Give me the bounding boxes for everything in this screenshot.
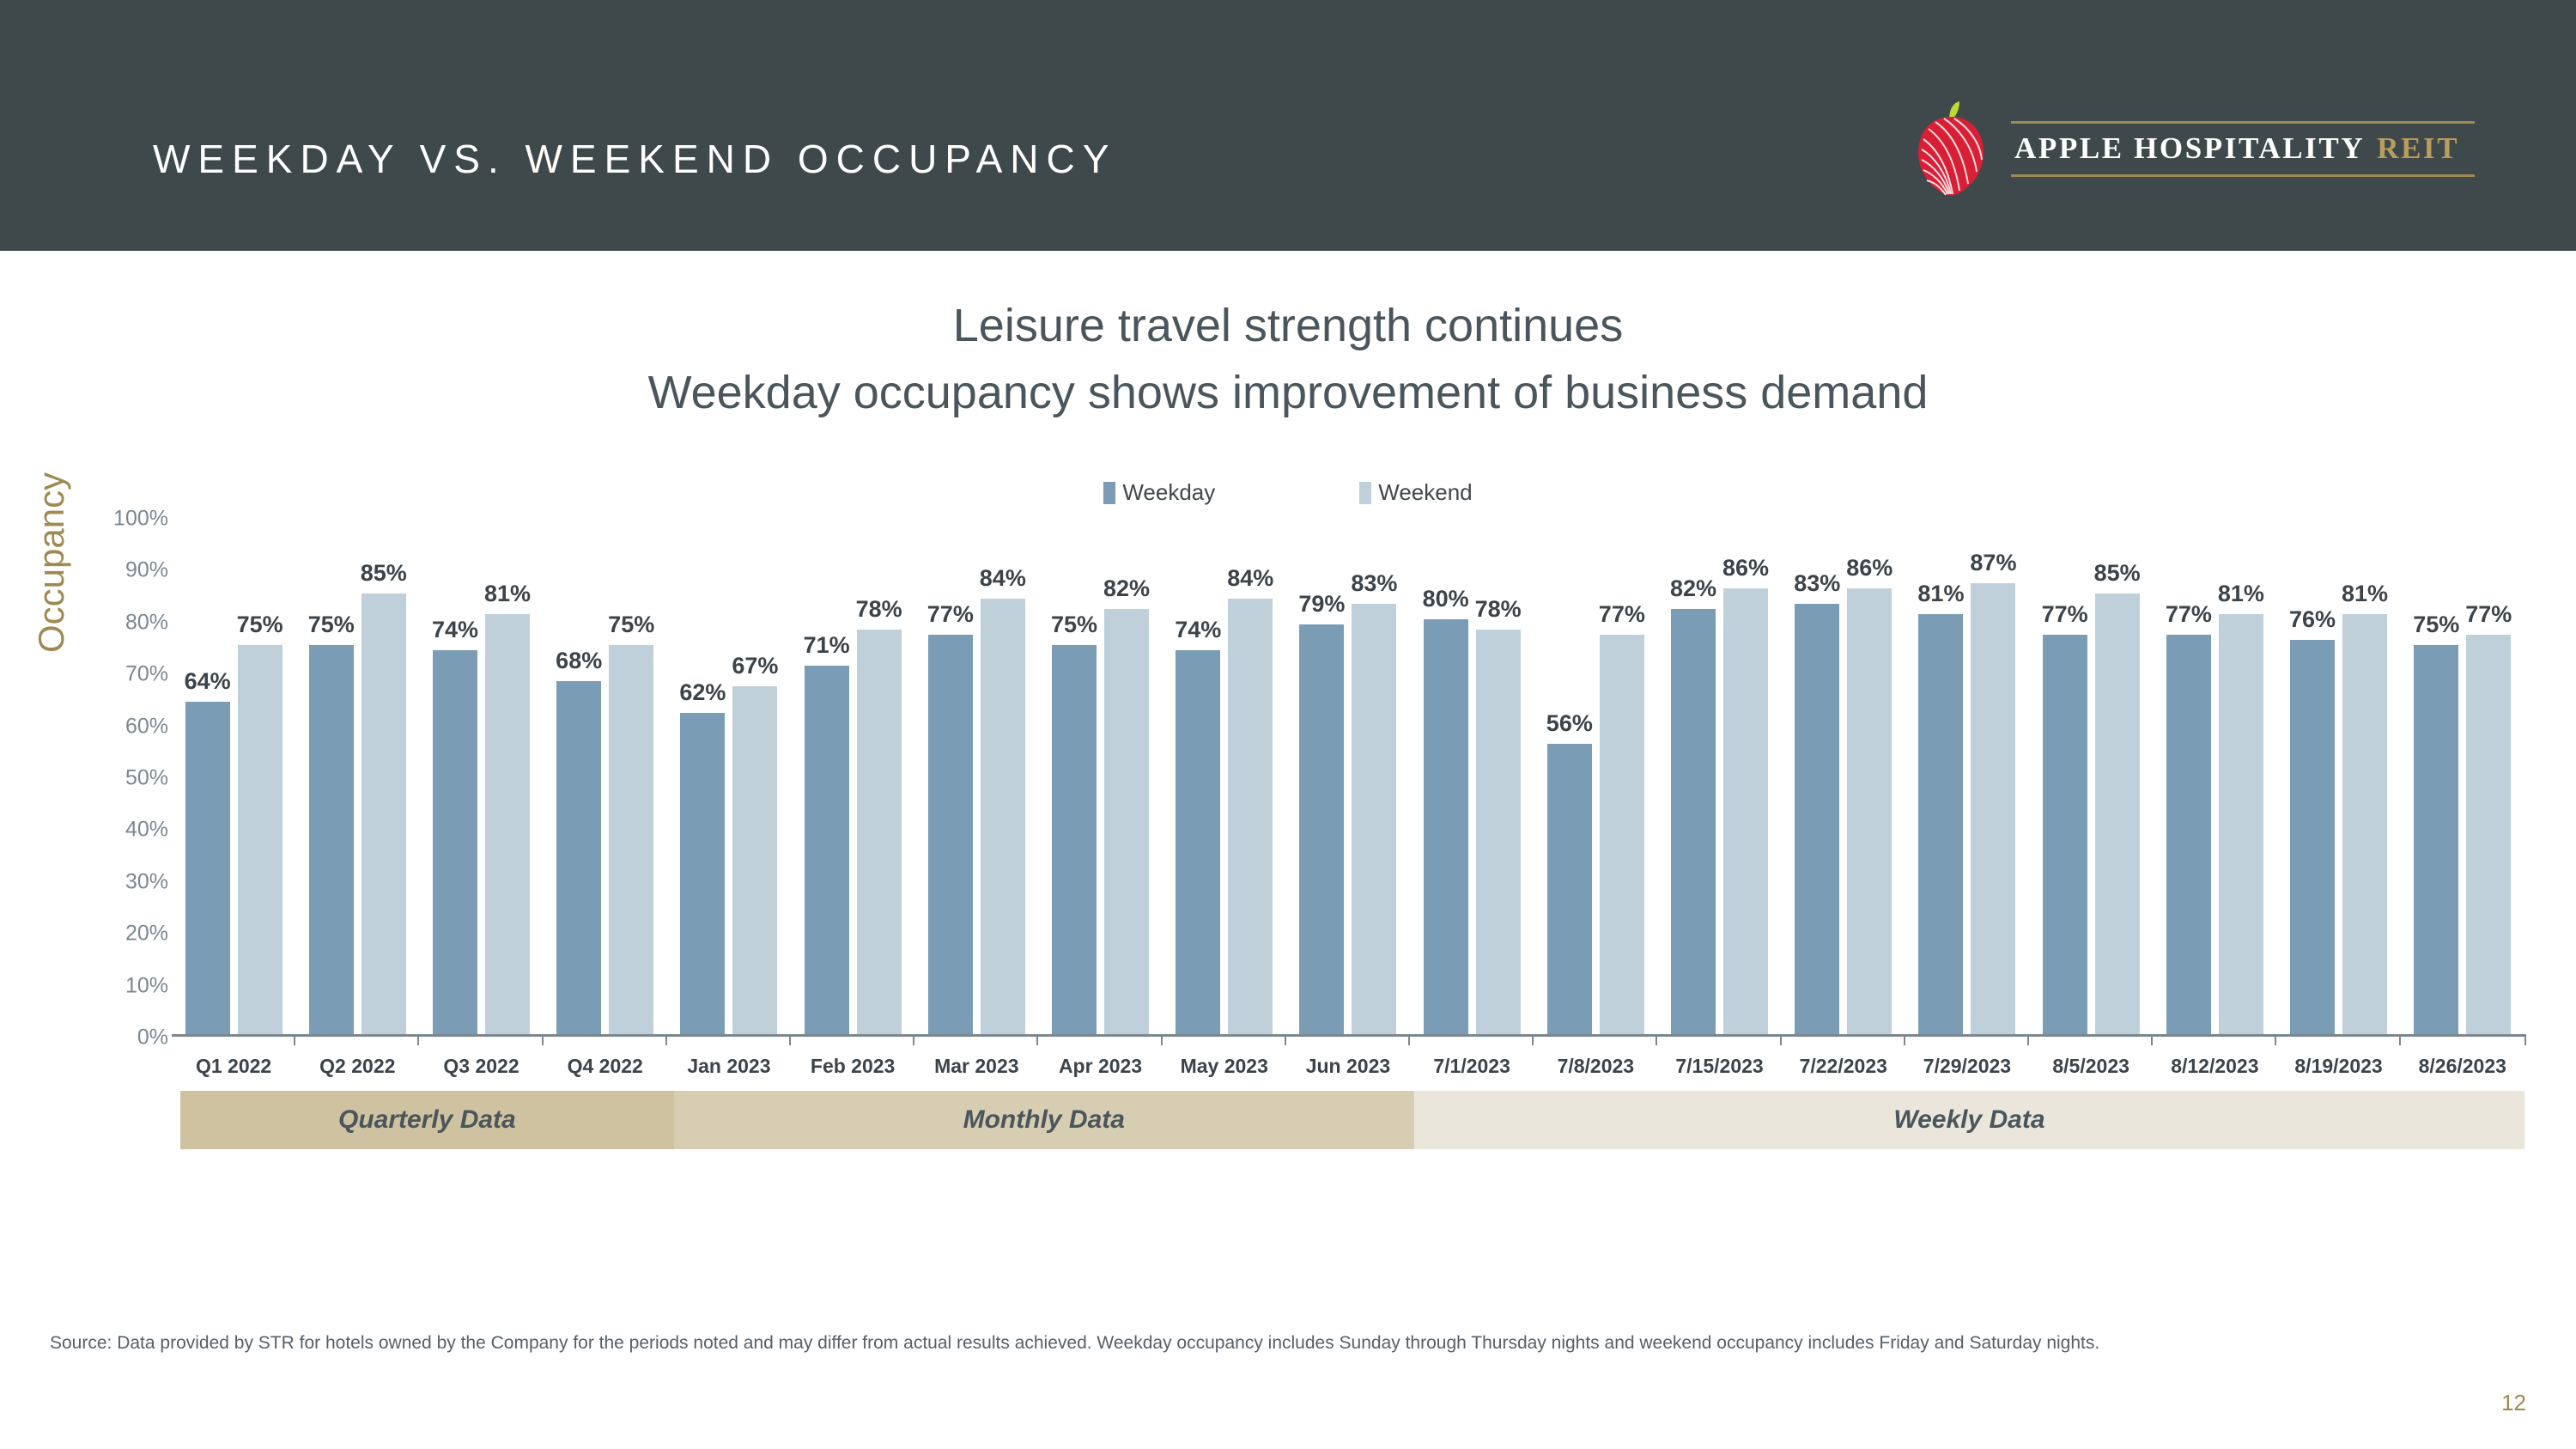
apple-logo-icon xyxy=(1915,101,1989,196)
bar-value-label: 77% xyxy=(1599,601,1645,628)
banner-segment-label: Monthly Data xyxy=(963,1105,1125,1135)
bar-weekend[interactable]: 75% xyxy=(609,645,653,1034)
chart-title-line2: Weekday occupancy shows improvement of b… xyxy=(0,359,2576,426)
bar-group: 74%81% xyxy=(419,515,543,1034)
y-tick: 80% xyxy=(125,610,168,635)
logo-rule-bottom xyxy=(2011,174,2475,177)
bar-groups: 64%75%75%85%74%81%68%75%62%67%71%78%77%8… xyxy=(172,515,2524,1034)
bar-weekend[interactable]: 86% xyxy=(1723,588,1768,1034)
bar-group: 74%84% xyxy=(1163,515,1286,1034)
bar-value-label: 75% xyxy=(308,612,355,638)
bar-weekend[interactable]: 84% xyxy=(981,599,1025,1034)
data-frequency-banner: Quarterly DataMonthly DataWeekly Data xyxy=(180,1091,2524,1149)
x-axis-label: 7/15/2023 xyxy=(1657,1044,1781,1078)
bar-group: 77%81% xyxy=(2153,515,2276,1034)
x-axis-label: 8/19/2023 xyxy=(2276,1044,2400,1078)
bar-weekday[interactable]: 80% xyxy=(1424,619,1468,1034)
x-axis-label: Jan 2023 xyxy=(667,1044,791,1078)
x-axis-label: May 2023 xyxy=(1163,1044,1286,1078)
x-axis-label: Q1 2022 xyxy=(172,1044,295,1078)
bar-weekend[interactable]: 77% xyxy=(1600,635,1644,1034)
chart-legend: WeekdayWeekend xyxy=(0,479,2576,506)
bar-weekend[interactable]: 87% xyxy=(1971,583,2015,1034)
bar-weekday[interactable]: 71% xyxy=(805,666,849,1034)
bar-value-label: 84% xyxy=(980,565,1026,592)
legend-item-weekday[interactable]: Weekday xyxy=(1103,479,1215,506)
y-tick: 0% xyxy=(137,1026,168,1050)
bar-weekend[interactable]: 84% xyxy=(1228,599,1273,1034)
y-tick: 40% xyxy=(125,818,168,843)
bar-value-label: 81% xyxy=(2218,581,2264,607)
bar-weekday[interactable]: 74% xyxy=(433,650,477,1034)
bar-weekend[interactable]: 67% xyxy=(732,686,777,1034)
plot-area: 64%75%75%85%74%81%68%75%62%67%71%78%77%8… xyxy=(172,515,2524,1034)
bar-value-label: 67% xyxy=(732,653,778,679)
bar-value-label: 85% xyxy=(2094,560,2141,587)
x-axis-label: Jun 2023 xyxy=(1286,1044,1410,1078)
bar-weekday[interactable]: 77% xyxy=(2166,635,2211,1034)
bar-value-label: 77% xyxy=(2042,601,2088,628)
y-tick: 90% xyxy=(125,558,168,583)
bar-weekend[interactable]: 83% xyxy=(1352,604,1396,1034)
x-axis-line xyxy=(172,1034,2524,1037)
banner-segment-label: Quarterly Data xyxy=(338,1105,516,1135)
bar-group: 77%85% xyxy=(2029,515,2153,1034)
x-axis-label: Apr 2023 xyxy=(1038,1044,1162,1078)
bar-value-label: 75% xyxy=(608,612,654,638)
bar-group: 75%82% xyxy=(1038,515,1162,1034)
bar-weekend[interactable]: 81% xyxy=(2342,614,2387,1034)
bar-group: 80%78% xyxy=(1410,515,1534,1034)
bar-group: 75%77% xyxy=(2401,515,2524,1034)
bar-value-label: 64% xyxy=(185,668,231,695)
x-axis-label: Q3 2022 xyxy=(419,1044,543,1078)
banner-segment-label: Weekly Data xyxy=(1893,1105,2044,1135)
y-axis-title: Occupancy xyxy=(31,472,72,653)
slide-root: WEEKDAY VS. WEEKEND OCCUPANCY xyxy=(0,0,2576,1449)
legend-swatch-weekday-icon xyxy=(1103,482,1115,504)
bar-value-label: 77% xyxy=(2465,601,2512,628)
y-tick: 10% xyxy=(125,973,168,998)
x-axis-labels: Q1 2022Q2 2022Q3 2022Q4 2022Jan 2023Feb … xyxy=(172,1044,2524,1078)
y-tick: 100% xyxy=(113,507,168,532)
x-axis-label: 7/22/2023 xyxy=(1782,1044,1905,1078)
bar-group: 76%81% xyxy=(2276,515,2400,1034)
page-title: WEEKDAY VS. WEEKEND OCCUPANCY xyxy=(153,136,1116,182)
bar-weekend[interactable]: 75% xyxy=(238,645,283,1034)
bar-weekend[interactable]: 81% xyxy=(2219,614,2263,1034)
bar-value-label: 81% xyxy=(484,581,531,607)
page-number: 12 xyxy=(2501,1390,2526,1416)
bar-weekday[interactable]: 76% xyxy=(2290,640,2335,1034)
bar-weekend[interactable]: 82% xyxy=(1104,609,1149,1034)
bar-value-label: 77% xyxy=(927,601,974,628)
bar-value-label: 74% xyxy=(1175,617,1221,643)
x-axis-label: 8/5/2023 xyxy=(2029,1044,2153,1078)
y-tick: 20% xyxy=(125,922,168,947)
bar-group: 81%87% xyxy=(1905,515,2029,1034)
logo-word-secondary: REIT xyxy=(2377,131,2459,166)
bar-weekday[interactable]: 77% xyxy=(928,635,973,1034)
bar-group: 83%86% xyxy=(1782,515,1905,1034)
bar-value-label: 84% xyxy=(1227,565,1273,592)
bar-value-label: 82% xyxy=(1670,575,1716,602)
x-axis-label: Q2 2022 xyxy=(295,1044,419,1078)
bar-value-label: 62% xyxy=(679,679,726,706)
x-axis-label: Feb 2023 xyxy=(791,1044,914,1078)
bar-weekday[interactable]: 81% xyxy=(1918,614,1963,1034)
bar-value-label: 77% xyxy=(2166,601,2212,628)
bar-weekday[interactable]: 82% xyxy=(1671,609,1716,1034)
bar-group: 62%67% xyxy=(667,515,791,1034)
legend-swatch-weekend-icon xyxy=(1359,482,1371,504)
x-axis-label: 8/26/2023 xyxy=(2401,1044,2524,1078)
y-tick: 50% xyxy=(125,766,168,791)
bar-weekday[interactable]: 62% xyxy=(680,713,725,1034)
bar-value-label: 82% xyxy=(1103,575,1150,602)
bar-value-label: 68% xyxy=(556,648,602,674)
bar-value-label: 56% xyxy=(1546,710,1593,737)
y-tick: 60% xyxy=(125,714,168,739)
y-tick: 30% xyxy=(125,869,168,894)
bar-value-label: 83% xyxy=(1794,570,1840,597)
bar-value-label: 83% xyxy=(1351,570,1397,597)
bar-weekday[interactable]: 75% xyxy=(2414,645,2458,1034)
bar-value-label: 78% xyxy=(1475,596,1522,623)
bar-value-label: 75% xyxy=(2413,612,2459,638)
bar-weekend[interactable]: 78% xyxy=(857,630,902,1034)
bar-value-label: 78% xyxy=(856,596,902,623)
banner-segment: Weekly Data xyxy=(1414,1091,2524,1149)
bar-weekday[interactable]: 77% xyxy=(2043,635,2087,1034)
y-axis-ticks: 0%10%20%30%40%50%60%70%80%90%100% xyxy=(86,508,168,1041)
bar-value-label: 87% xyxy=(1970,550,2016,576)
logo-text: APPLE HOSPITALITY REIT xyxy=(2011,121,2475,177)
legend-label: Weekday xyxy=(1122,479,1215,506)
bar-group: 71%78% xyxy=(791,515,914,1034)
bar-value-label: 81% xyxy=(1917,581,1964,607)
bar-weekend[interactable]: 78% xyxy=(1476,630,1521,1034)
bar-weekday[interactable]: 56% xyxy=(1547,744,1592,1034)
bar-group: 75%85% xyxy=(295,515,419,1034)
banner-segment: Monthly Data xyxy=(674,1091,1414,1149)
bar-group: 68%75% xyxy=(544,515,667,1034)
slide-header: WEEKDAY VS. WEEKEND OCCUPANCY xyxy=(0,0,2576,251)
chart-title-line1: Leisure travel strength continues xyxy=(0,292,2576,359)
bar-value-label: 74% xyxy=(432,617,478,643)
bar-group: 56%77% xyxy=(1534,515,1657,1034)
bar-weekday[interactable]: 79% xyxy=(1299,624,1344,1034)
x-axis-label: 7/1/2023 xyxy=(1410,1044,1534,1078)
x-axis-label: Q4 2022 xyxy=(544,1044,667,1078)
bar-group: 82%86% xyxy=(1657,515,1781,1034)
bar-group: 79%83% xyxy=(1286,515,1410,1034)
x-axis-label: 7/29/2023 xyxy=(1905,1044,2029,1078)
bar-weekend[interactable]: 85% xyxy=(2095,594,2140,1034)
logo-word-primary: APPLE HOSPITALITY xyxy=(2014,131,2365,166)
bar-value-label: 76% xyxy=(2289,606,2336,633)
source-note: Source: Data provided by STR for hotels … xyxy=(50,1333,2099,1354)
banner-segment: Quarterly Data xyxy=(180,1091,674,1149)
bar-value-label: 75% xyxy=(237,612,283,638)
bar-weekday[interactable]: 83% xyxy=(1795,604,1839,1034)
x-axis-label: Mar 2023 xyxy=(914,1044,1038,1078)
x-axis-label: 7/8/2023 xyxy=(1534,1044,1657,1078)
bar-weekday[interactable]: 64% xyxy=(185,702,230,1034)
legend-item-weekend[interactable]: Weekend xyxy=(1359,479,1472,506)
bar-weekday[interactable]: 75% xyxy=(1052,645,1097,1034)
bar-group: 77%84% xyxy=(914,515,1038,1034)
bar-weekend[interactable]: 77% xyxy=(2466,635,2511,1034)
bar-value-label: 85% xyxy=(361,560,407,587)
bar-value-label: 71% xyxy=(804,632,850,659)
bar-value-label: 86% xyxy=(1846,555,1893,581)
bar-weekend[interactable]: 85% xyxy=(361,594,406,1034)
bar-value-label: 80% xyxy=(1423,586,1469,612)
chart-title: Leisure travel strength continues Weekda… xyxy=(0,292,2576,426)
bar-weekend[interactable]: 81% xyxy=(485,614,530,1034)
y-tick: 70% xyxy=(125,662,168,687)
x-axis-label: 8/12/2023 xyxy=(2153,1044,2276,1078)
bar-weekend[interactable]: 86% xyxy=(1847,588,1892,1034)
bar-weekday[interactable]: 74% xyxy=(1176,650,1220,1034)
bar-value-label: 86% xyxy=(1722,555,1769,581)
bar-value-label: 79% xyxy=(1298,591,1345,618)
legend-label: Weekend xyxy=(1378,479,1472,506)
bar-weekday[interactable]: 75% xyxy=(309,645,354,1034)
bar-weekday[interactable]: 68% xyxy=(556,681,601,1034)
bar-value-label: 75% xyxy=(1051,612,1097,638)
bar-group: 64%75% xyxy=(172,515,295,1034)
bar-value-label: 81% xyxy=(2342,581,2388,607)
company-logo: APPLE HOSPITALITY REIT xyxy=(1915,101,2475,196)
